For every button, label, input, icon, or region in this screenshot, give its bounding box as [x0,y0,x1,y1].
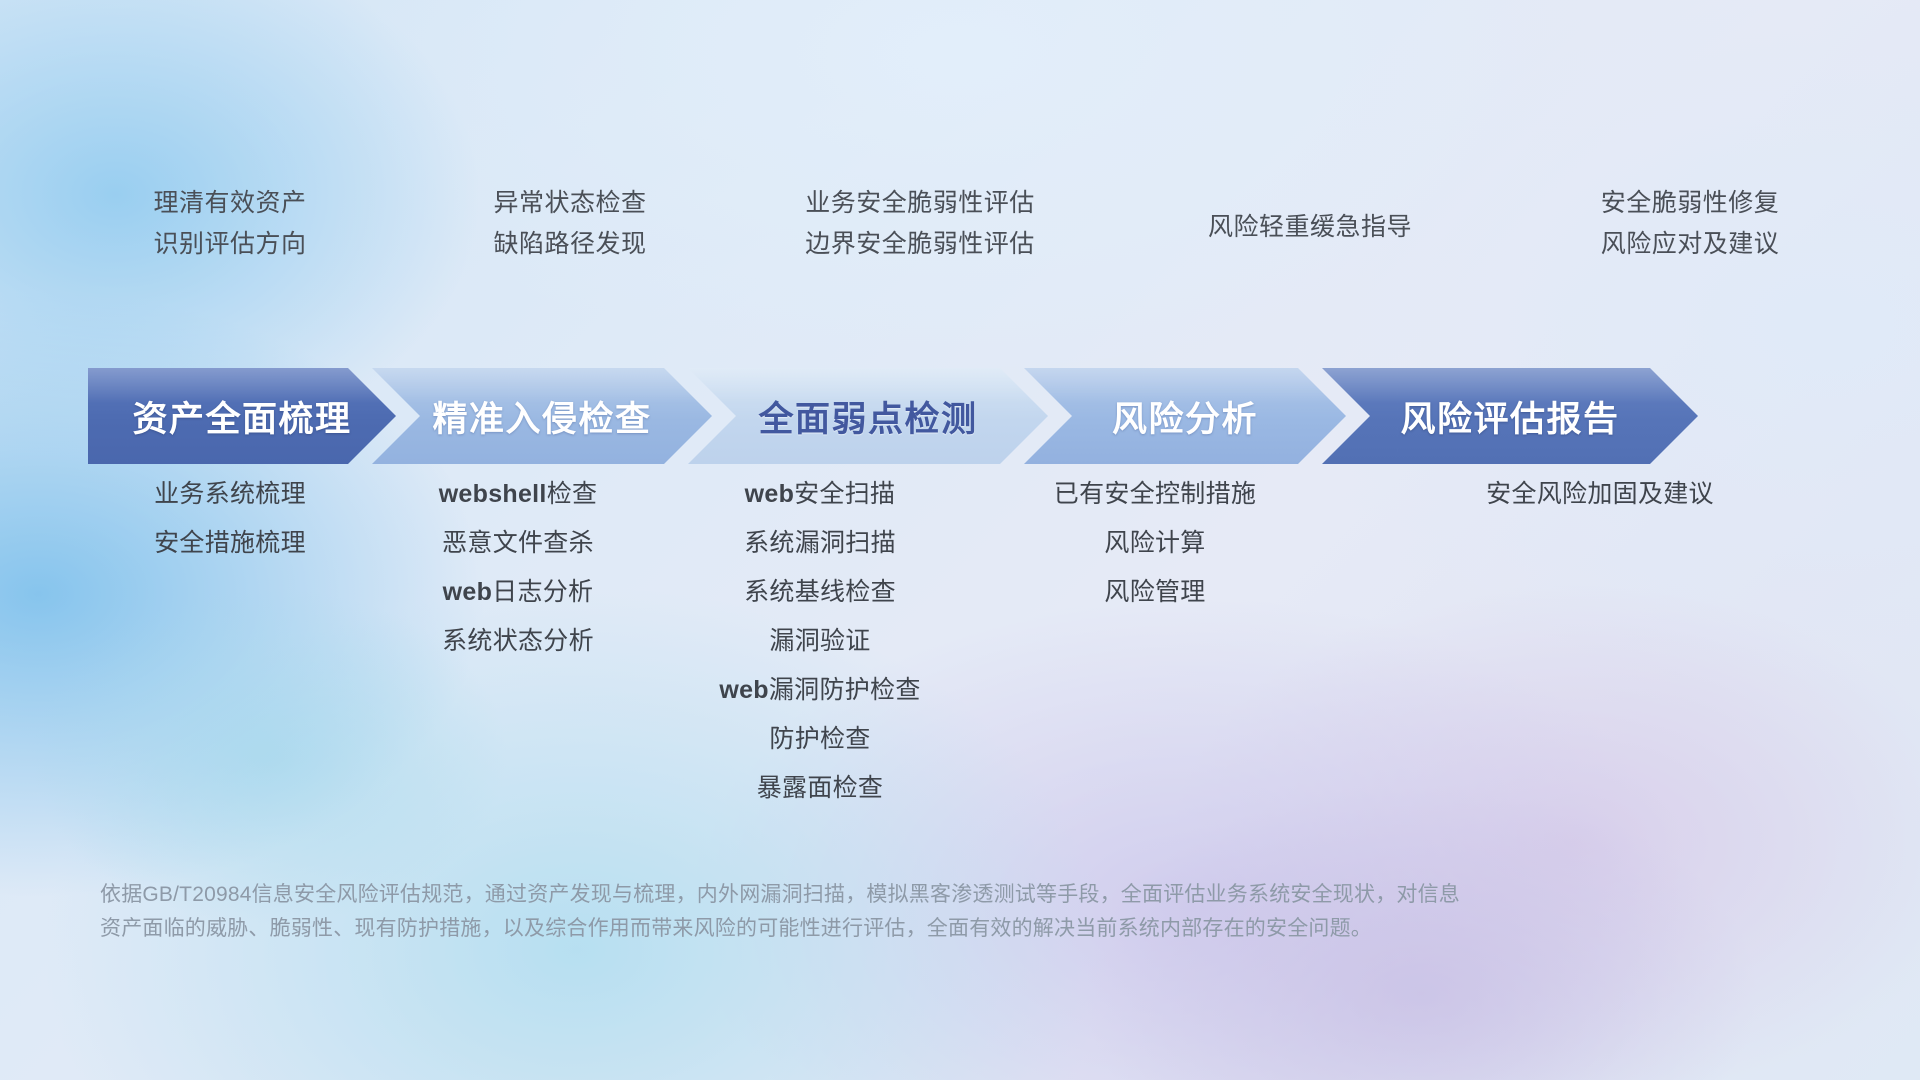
items-stage-2: webshell检查 恶意文件查杀 web日志分析 系统状态分析 [348,470,688,666]
top-note-text: 风险应对及建议 [1490,224,1890,265]
stage-title: 资产全面梳理 [132,391,351,442]
stage-item-emphasis: webshell [439,480,547,508]
top-notes-stage-1: 理清有效资产 识别评估方向 [60,183,400,265]
stage-item-rest: 安全扫描 [794,480,895,508]
description-line: 资产面临的威胁、脆弱性、现有防护措施，以及综合作用而带来风险的可能性进行评估，全… [100,912,1620,946]
description-paragraph: 依据GB/T20984信息安全风险评估规范，通过资产发现与梳理，内外网漏洞扫描，… [100,878,1620,946]
stage-title: 全面弱点检测 [758,391,977,442]
stage-item: 安全风险加固及建议 [1360,470,1840,519]
top-note-text: 理清有效资产 [60,183,400,224]
stage-items-row: 业务系统梳理 安全措施梳理 webshell检查 恶意文件查杀 web日志分析 … [0,470,1920,720]
stage-item: 已有安全控制措施 [955,470,1355,519]
top-note-text: 异常状态检查 [400,183,740,224]
stage-item-rest: 漏洞防护检查 [769,676,921,704]
stage-arrow-4[interactable]: 风险分析 [1024,368,1346,464]
top-note-text: 风险轻重缓急指导 [1110,207,1510,248]
stage-item-rest: 日志分析 [492,578,593,606]
items-stage-4: 已有安全控制措施 风险计算 风险管理 [955,470,1355,617]
top-note-text: 缺陷路径发现 [400,224,740,265]
stage-item: 防护检查 [640,715,1000,764]
top-note-text: 业务安全脆弱性评估 [700,183,1140,224]
stage-item: 系统漏洞扫描 [640,519,1000,568]
top-notes-stage-3: 业务安全脆弱性评估 边界安全脆弱性评估 [700,183,1140,265]
items-stage-3: web安全扫描 系统漏洞扫描 系统基线检查 漏洞验证 web漏洞防护检查 防护检… [640,470,1000,813]
stage-item: web漏洞防护检查 [640,666,1000,715]
top-note-text: 边界安全脆弱性评估 [700,224,1140,265]
stage-item: 系统基线检查 [640,568,1000,617]
stage-item: 暴露面检查 [640,764,1000,813]
items-stage-5: 安全风险加固及建议 [1360,470,1840,519]
stage-item: 风险计算 [955,519,1355,568]
stage-title: 精准入侵检查 [432,391,651,442]
stage-arrow-5[interactable]: 风险评估报告 [1322,368,1698,464]
stage-item: 漏洞验证 [640,617,1000,666]
stage-arrow-3[interactable]: 全面弱点检测 [688,368,1048,464]
stage-item: 风险管理 [955,568,1355,617]
top-notes-row: 理清有效资产 识别评估方向 异常状态检查 缺陷路径发现 业务安全脆弱性评估 边界… [0,183,1920,288]
top-note-text: 识别评估方向 [60,224,400,265]
stage-item-emphasis: web [745,480,795,508]
stage-item: 系统状态分析 [348,617,688,666]
stage-item: webshell检查 [348,470,688,519]
stage-item: 恶意文件查杀 [348,519,688,568]
stage-arrow-2[interactable]: 精准入侵检查 [372,368,712,464]
description-line: 依据GB/T20984信息安全风险评估规范，通过资产发现与梳理，内外网漏洞扫描，… [100,878,1620,912]
top-notes-stage-2: 异常状态检查 缺陷路径发现 [400,183,740,265]
stage-item-emphasis: web [443,578,493,606]
stage-item: web日志分析 [348,568,688,617]
stage-item-rest: 检查 [547,480,598,508]
stage-arrow-1[interactable]: 资产全面梳理 [88,368,396,464]
top-notes-stage-5: 安全脆弱性修复 风险应对及建议 [1490,183,1890,265]
stage-arrow-banner: 资产全面梳理 精准入侵检查 全面弱点检测 风险分析 风险评估报告 [0,368,1920,464]
stage-title: 风险评估报告 [1400,391,1619,442]
stage-item-emphasis: web [719,676,769,704]
process-diagram: 理清有效资产 识别评估方向 异常状态检查 缺陷路径发现 业务安全脆弱性评估 边界… [0,0,1920,1080]
stage-item: web安全扫描 [640,470,1000,519]
top-notes-stage-4: 风险轻重缓急指导 [1110,207,1510,248]
stage-title: 风险分析 [1112,391,1258,442]
top-note-text: 安全脆弱性修复 [1490,183,1890,224]
